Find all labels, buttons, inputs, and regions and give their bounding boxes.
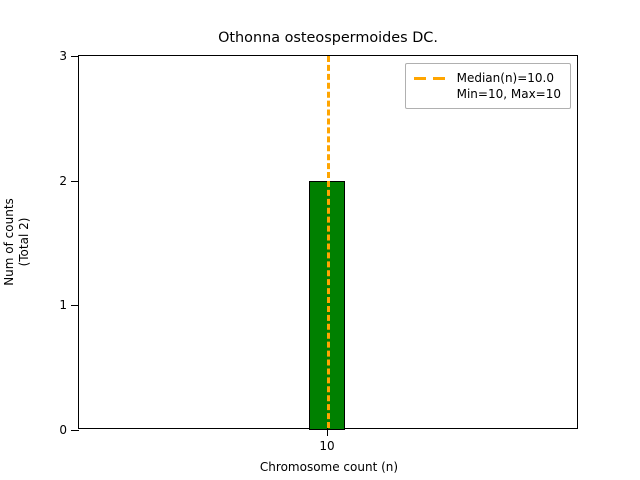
legend-entry-sublabel: Min=10, Max=10	[457, 86, 561, 102]
y-axis-label: Num of counts (Total 2)	[2, 112, 32, 372]
chart-title: Othonna osteospermoides DC.	[78, 30, 578, 47]
y-tick-label: 1	[59, 299, 67, 311]
median-line	[327, 56, 330, 428]
x-tick-label: 10	[319, 440, 334, 452]
y-tick-mark	[71, 305, 79, 306]
y-tick-label: 0	[59, 424, 67, 436]
y-tick-mark	[71, 430, 79, 431]
legend-entry-median: Median(n)=10.0	[414, 70, 561, 86]
y-tick-label: 3	[59, 50, 67, 62]
chart-legend: Median(n)=10.0 Min=10, Max=10	[405, 63, 571, 109]
plot-area: 0 1 2 3 Num of counts (Total 2) 10 Chrom…	[78, 55, 578, 429]
x-tick-mark	[327, 428, 328, 436]
y-tick-mark	[71, 181, 79, 182]
dashed-line-icon	[414, 71, 448, 85]
legend-entry-minmax: Min=10, Max=10	[414, 86, 561, 102]
chart-figure: Othonna osteospermoides DC. 0 1 2 3 Num …	[0, 0, 640, 480]
y-tick-mark	[71, 56, 79, 57]
legend-entry-label: Median(n)=10.0	[457, 70, 554, 86]
x-axis-label: Chromosome count (n)	[79, 460, 579, 474]
y-tick-label: 2	[59, 175, 67, 187]
